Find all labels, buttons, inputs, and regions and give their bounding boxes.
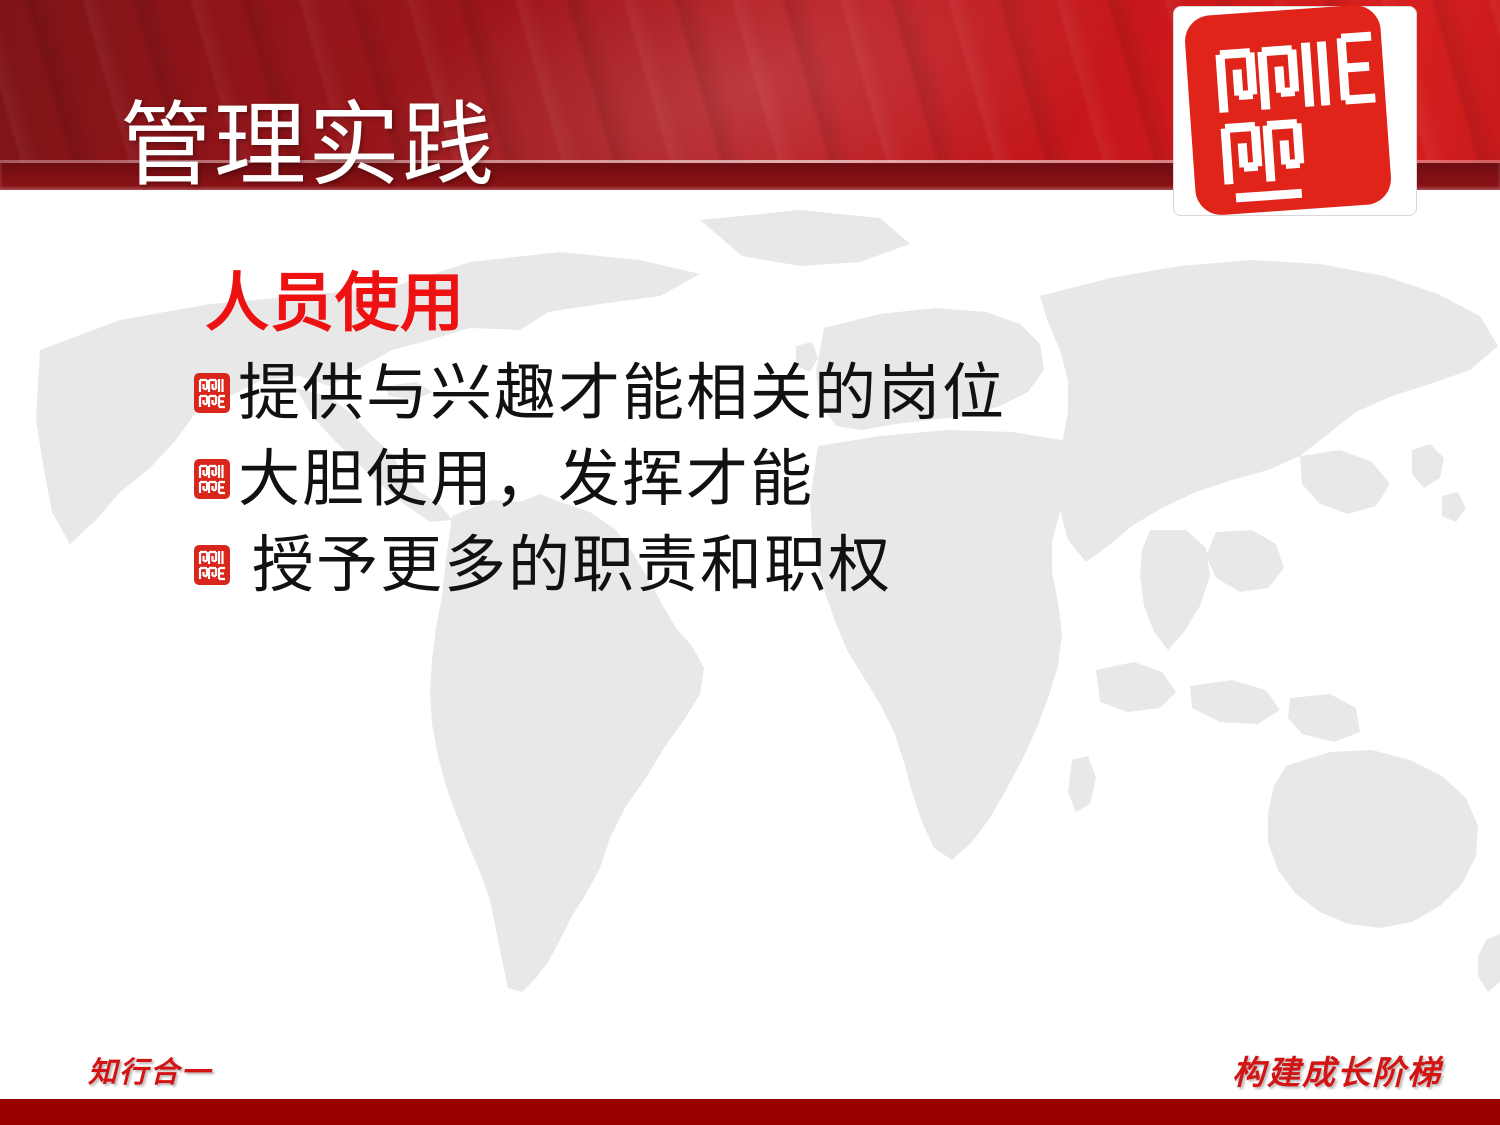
section-heading: 人员使用 (205, 272, 465, 336)
slide-canvas: 管理实践 (0, 0, 1500, 1125)
seal-bullet-icon (192, 457, 232, 501)
seal-bullet-icon (192, 543, 232, 587)
bullet-list: 提供与兴趣才能相关的岗位 (192, 350, 1392, 608)
seal-bullet-icon (192, 371, 232, 415)
bullet-text: 提供与兴趣才能相关的岗位 (238, 362, 1006, 424)
bullet-text: 授予更多的职责和职权 (252, 534, 892, 596)
footer-slogan-right: 构建成长阶梯 (1232, 1046, 1442, 1094)
bottom-accent-bar (0, 1099, 1500, 1125)
page-title: 管理实践 (120, 98, 496, 195)
list-item: 提供与兴趣才能相关的岗位 (192, 350, 1392, 436)
bullet-text: 大胆使用，发挥才能 (238, 448, 814, 510)
footer-slogan-left: 知行合一 (88, 1049, 212, 1091)
list-item: 大胆使用，发挥才能 (192, 436, 1392, 522)
list-item: 授予更多的职责和职权 (192, 522, 1392, 608)
company-seal-logo[interactable] (1178, 4, 1400, 216)
slide-body: 人员使用 提供与兴 (0, 200, 1500, 1040)
